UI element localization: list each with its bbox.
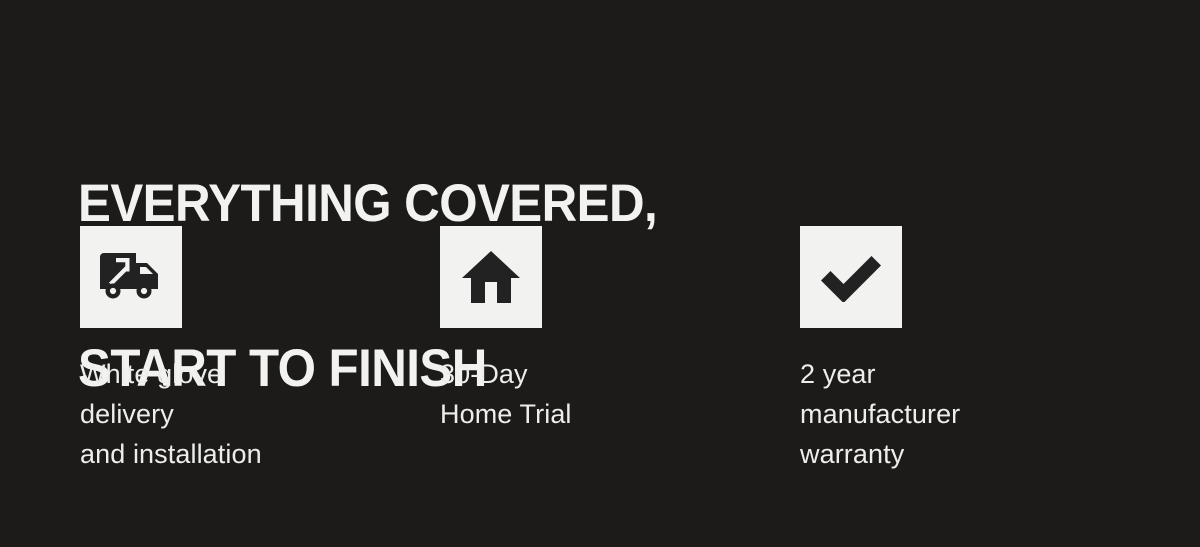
feature-item-warranty: 2 year manufacturer warranty: [800, 226, 1160, 474]
promo-banner: EVERYTHING COVERED, START TO FINISH: [0, 0, 1200, 547]
feature-item-home-trial: 30-Day Home Trial: [440, 226, 800, 434]
feature-list: White glove delivery and installation: [80, 226, 1160, 474]
icon-tile-warranty: [800, 226, 902, 328]
delivery-truck-icon: [100, 253, 162, 301]
home-icon: [462, 251, 520, 303]
feature-item-delivery: White glove delivery and installation: [80, 226, 440, 474]
checkmark-icon: [821, 252, 881, 302]
feature-label-home-trial: 30-Day Home Trial: [440, 354, 800, 434]
icon-tile-home-trial: [440, 226, 542, 328]
heading-line-1: EVERYTHING COVERED,: [78, 176, 1055, 231]
feature-label-delivery: White glove delivery and installation: [80, 354, 440, 474]
icon-tile-delivery: [80, 226, 182, 328]
feature-label-warranty: 2 year manufacturer warranty: [800, 354, 1160, 474]
